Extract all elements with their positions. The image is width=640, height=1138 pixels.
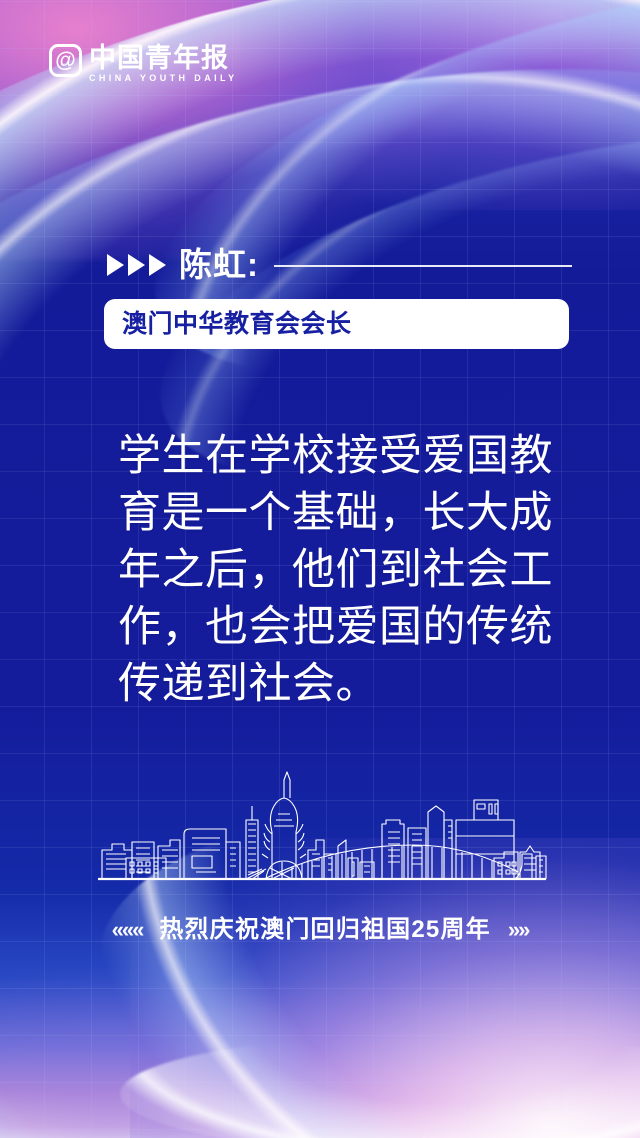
speaker-header: 陈虹:	[107, 248, 572, 281]
speaker-title-text: 澳门中华教育会会长	[122, 312, 352, 337]
quote-text: 学生在学校接受爱国教育是一个基础，长大成年之后，他们到社会工作，也会把爱国的传统…	[118, 428, 558, 713]
brand-logo-text: 中国青年报 CHINA YOUTH DAILY	[89, 44, 237, 83]
chevron-right-icon: »»	[508, 919, 528, 941]
macau-skyline-illustration	[96, 762, 548, 884]
triangle-icon-1	[107, 254, 124, 276]
poster-canvas: @ 中国青年报 CHINA YOUTH DAILY 陈虹: 澳门中华教育会会长 …	[0, 0, 640, 1138]
speaker-title-badge: 澳门中华教育会会长	[104, 299, 569, 349]
at-symbol-icon: @	[49, 44, 82, 77]
triangle-icon-2	[128, 254, 145, 276]
brand-name-cn: 中国青年报	[89, 45, 237, 72]
footer-banner: ««« 热烈庆祝澳门回归祖国25周年 »»	[0, 918, 640, 942]
speaker-name: 陈虹:	[179, 248, 259, 281]
chevron-left-icon: «««	[112, 919, 143, 941]
brand-name-en: CHINA YOUTH DAILY	[89, 74, 237, 83]
brand-logo: @ 中国青年报 CHINA YOUTH DAILY	[49, 44, 237, 83]
footer-slogan: 热烈庆祝澳门回归祖国25周年	[159, 918, 491, 942]
triangle-icon-3	[149, 254, 166, 276]
triple-triangle-icon	[107, 254, 166, 276]
header-divider-rule	[274, 265, 572, 267]
